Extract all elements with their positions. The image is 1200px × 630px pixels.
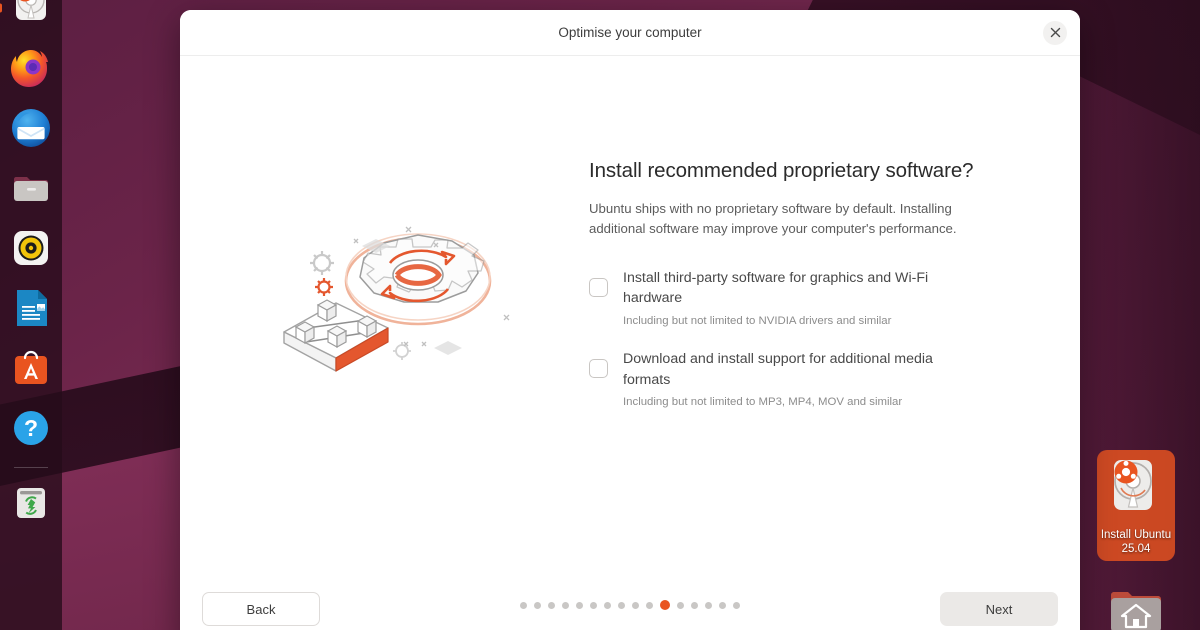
step-dot: [705, 602, 712, 609]
dock-item-libreoffice-writer[interactable]: [7, 284, 55, 332]
step-dot: [677, 602, 684, 609]
text-column: Install recommended proprietary software…: [589, 159, 1056, 470]
option-texts: Install third-party software for graphic…: [623, 268, 968, 328]
home-folder-desktop-icon[interactable]: [1090, 578, 1182, 630]
step-dot-active: [660, 600, 670, 610]
option-third-party-software[interactable]: Install third-party software for graphic…: [589, 268, 1046, 328]
step-dot: [590, 602, 597, 609]
desktop-icon-label-line2: 25.04: [1101, 542, 1171, 556]
step-dot: [520, 602, 527, 609]
step-dot: [646, 602, 653, 609]
dock-separator: [14, 467, 48, 468]
selection-highlight: Install Ubuntu 25.04: [1097, 450, 1175, 561]
dock-item-rhythmbox[interactable]: [7, 224, 55, 272]
close-button[interactable]: [1043, 21, 1067, 45]
home-folder-icon: [1104, 578, 1168, 630]
option-sublabel: Including but not limited to MP3, MP4, M…: [623, 395, 968, 410]
step-dot: [719, 602, 726, 609]
dock: ?: [0, 0, 62, 630]
app-center-icon: [7, 344, 55, 392]
thunderbird-icon: [7, 104, 55, 152]
step-dot: [562, 602, 569, 609]
ubuntu-disc-icon: [1101, 456, 1165, 520]
desktop-icon-label-line1: Install Ubuntu: [1101, 528, 1171, 542]
checkbox-media-formats[interactable]: [589, 359, 608, 378]
trash-icon: [7, 478, 55, 526]
illustration-column: [204, 203, 589, 428]
dock-item-help[interactable]: ?: [7, 404, 55, 452]
step-dot: [691, 602, 698, 609]
dock-item-files[interactable]: [7, 164, 55, 212]
next-button[interactable]: Next: [940, 592, 1058, 626]
dock-item-firefox[interactable]: [7, 44, 55, 92]
option-sublabel: Including but not limited to NVIDIA driv…: [623, 314, 968, 329]
option-media-formats[interactable]: Download and install support for additio…: [589, 349, 1046, 409]
svg-text:?: ?: [24, 415, 38, 441]
page-description: Ubuntu ships with no proprietary softwar…: [589, 199, 989, 238]
desktop-icon-label: Install Ubuntu 25.04: [1101, 528, 1171, 556]
ubuntu-installer-icon: [7, 0, 55, 32]
libreoffice-writer-icon: [7, 284, 55, 332]
running-indicator-dot: [0, 4, 2, 13]
step-dot: [618, 602, 625, 609]
dock-item-app-center[interactable]: [7, 344, 55, 392]
window-footer: Back Next: [180, 574, 1080, 630]
option-label: Download and install support for additio…: [623, 349, 968, 389]
step-dot: [548, 602, 555, 609]
option-texts: Download and install support for additio…: [623, 349, 968, 409]
rhythmbox-icon: [7, 224, 55, 272]
step-indicator: [520, 600, 740, 610]
gear-settings-illustration: [266, 203, 528, 388]
window-title: Optimise your computer: [558, 25, 701, 40]
dock-item-thunderbird[interactable]: [7, 104, 55, 152]
option-label: Install third-party software for graphic…: [623, 268, 968, 308]
help-icon: ?: [7, 404, 55, 452]
page-heading: Install recommended proprietary software…: [589, 159, 1046, 183]
step-dot: [604, 602, 611, 609]
installer-window: Optimise your computer: [180, 10, 1080, 630]
close-icon: [1050, 27, 1061, 38]
step-dot: [534, 602, 541, 609]
desktop: ?: [0, 0, 1200, 630]
window-titlebar: Optimise your computer: [180, 10, 1080, 56]
step-dot: [632, 602, 639, 609]
dock-item-ubuntu-installer[interactable]: [7, 0, 55, 32]
back-button[interactable]: Back: [202, 592, 320, 626]
step-dot: [576, 602, 583, 609]
firefox-icon: [7, 44, 55, 92]
step-dot: [733, 602, 740, 609]
install-ubuntu-desktop-icon[interactable]: Install Ubuntu 25.04: [1090, 450, 1182, 561]
files-icon: [7, 164, 55, 212]
checkbox-third-party-software[interactable]: [589, 278, 608, 297]
dock-item-trash[interactable]: [7, 478, 55, 526]
window-content: Install recommended proprietary software…: [180, 56, 1080, 574]
